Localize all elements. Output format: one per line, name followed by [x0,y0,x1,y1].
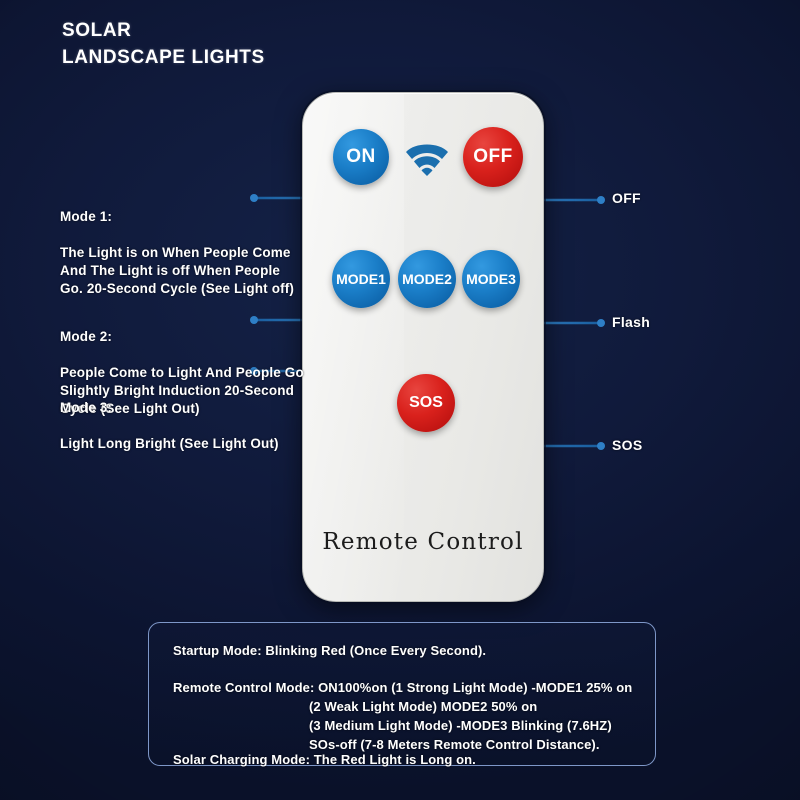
annotation-mode3-body: Light Long Bright (See Light Out) [60,435,279,453]
button-mode3[interactable]: MODE3 [462,250,520,308]
callout-label-sos: SOS [612,437,642,453]
specifications-box: Startup Mode: Blinking Red (Once Every S… [148,622,656,766]
button-sos[interactable]: SOS [397,374,455,432]
title-line-2: LANDSCAPE LIGHTS [62,45,265,72]
page-title: SOLAR LANDSCAPE LIGHTS [62,18,265,72]
info-remote-control-mode-line2: (2 Weak Light Mode) MODE2 50% on [309,699,537,714]
info-startup-mode: Startup Mode: Blinking Red (Once Every S… [173,643,486,658]
annotation-mode1-body: The Light is on When People Come And The… [60,244,294,298]
button-mode1[interactable]: MODE1 [332,250,390,308]
annotation-mode2-title: Mode 2: [60,328,304,346]
button-mode2[interactable]: MODE2 [398,250,456,308]
info-remote-control-mode-line3: (3 Medium Light Mode) -MODE3 Blinking (7… [309,718,612,733]
annotation-mode1-title: Mode 1: [60,208,294,226]
product-infographic: SOLAR LANDSCAPE LIGHTS [0,0,800,800]
info-solar-charging-mode: Solar Charging Mode: The Red Light is Lo… [173,752,476,767]
callout-label-off: OFF [612,190,641,206]
annotation-mode3-title: Mode 3: [60,399,279,417]
annotation-mode1: Mode 1: The Light is on When People Come… [60,190,294,316]
info-remote-control-mode-line4: SOs-off (7-8 Meters Remote Control Dista… [309,737,600,752]
callout-label-flash: Flash [612,314,650,330]
button-off[interactable]: OFF [463,127,523,187]
title-line-1: SOLAR [62,20,132,41]
wifi-icon [403,140,451,178]
remote-brand-label: Remote Control [303,529,543,555]
info-remote-control-mode-line1: Remote Control Mode: ON100%on (1 Strong … [173,680,632,695]
annotation-mode3: Mode 3: Light Long Bright (See Light Out… [60,381,279,471]
button-on[interactable]: ON [333,129,389,185]
